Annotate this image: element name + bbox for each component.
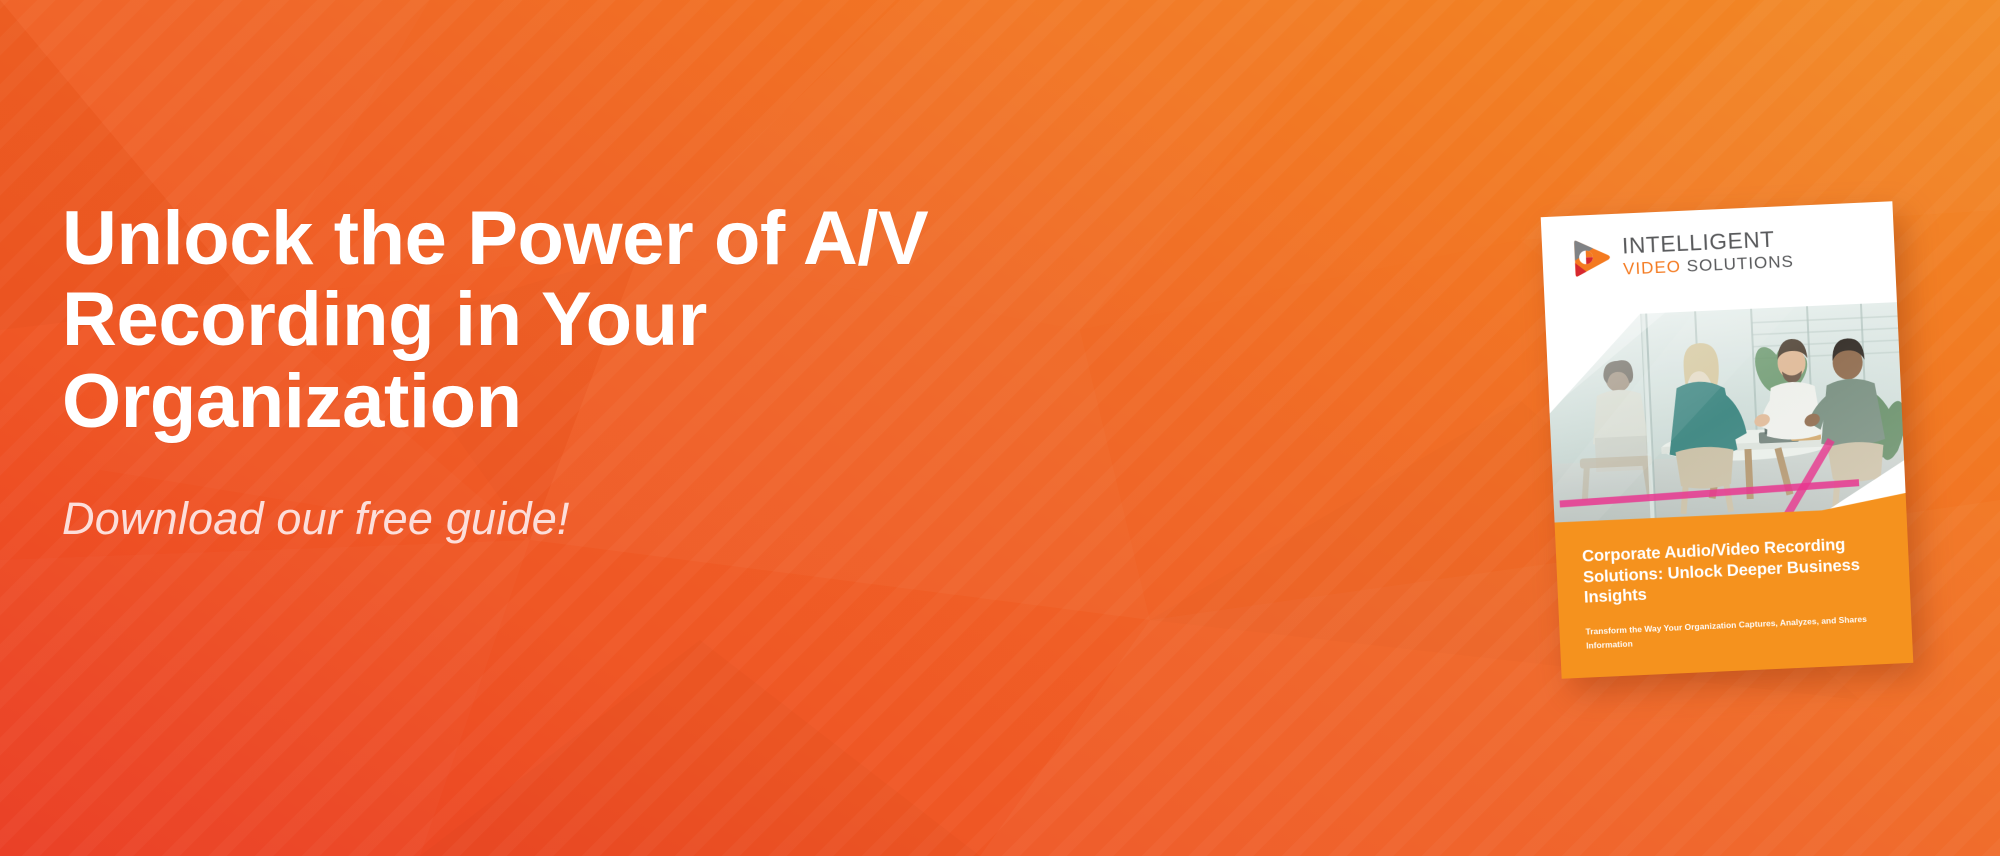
logo-word-video: VIDEO (1623, 257, 1682, 279)
brochure-title-panel: Corporate Audio/Video Recording Solution… (1554, 493, 1913, 679)
ivs-logo-wordmark: INTELLIGENT VIDEO SOLUTIONS (1622, 228, 1795, 277)
brochure-title: Corporate Audio/Video Recording Solution… (1582, 533, 1880, 608)
ivs-logo: INTELLIGENT VIDEO SOLUTIONS (1571, 228, 1795, 280)
brochure-subtitle: Transform the Way Your Organization Capt… (1585, 612, 1876, 652)
promo-banner: Unlock the Power of A/V Recording in You… (0, 0, 2000, 856)
hero-subheadline: Download our free guide! (62, 494, 1182, 544)
logo-word-solutions: SOLUTIONS (1686, 252, 1794, 276)
page-title: Unlock the Power of A/V Recording in You… (62, 198, 1182, 442)
hero-copy: Unlock the Power of A/V Recording in You… (62, 198, 1182, 543)
ivs-play-triangle-logo-icon (1571, 236, 1613, 280)
brochure-cover[interactable]: INTELLIGENT VIDEO SOLUTIONS (1541, 201, 1914, 678)
